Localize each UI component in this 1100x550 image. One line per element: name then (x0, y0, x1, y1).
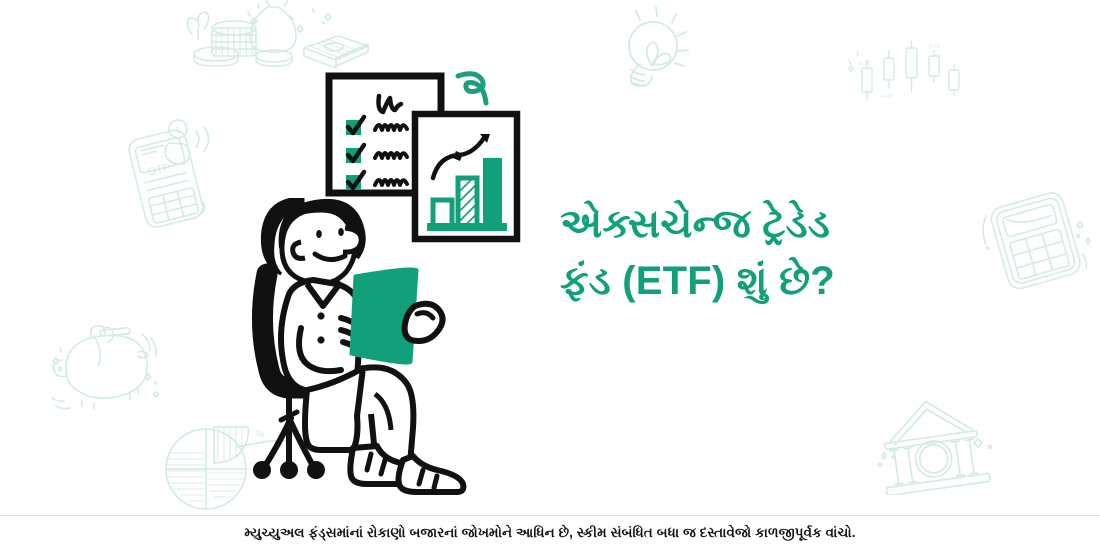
headline-line-2: ફંડ (ETF) શું છે? (560, 253, 1030, 310)
man-head (262, 198, 363, 284)
green-swoosh-flourish (452, 68, 502, 112)
page-title: એક્સચેન્જ ટ્રેડેડ ફંડ (ETF) શું છે? (560, 196, 1030, 310)
lightbulb-watermark (600, 6, 700, 106)
man-hand (405, 304, 443, 341)
checklist-rows (346, 117, 407, 190)
bank-building-watermark (870, 395, 1000, 495)
seated-man-illustration (245, 198, 470, 508)
disclaimer-text: મ્યુચ્યુઅલ ફંડ્સમાંનાં રોકાણો બજારનાં જો… (244, 525, 855, 541)
svg-text:-0.16: -0.16 (858, 61, 871, 67)
candlestick-chart-watermark: -0.16 +0.53 -0.78 +0.38 - (845, 40, 975, 120)
otp-phone-watermark: OTP 1 (110, 105, 230, 230)
bar-large (483, 158, 502, 227)
headline-line-1: એક્સચેન્જ ટ્રેડેડ (560, 196, 1030, 253)
svg-text:+0.53: +0.53 (901, 40, 915, 41)
etf-banner: -0.16 +0.53 -0.78 +0.38 - OTP (0, 0, 1100, 550)
svg-text:OTP: OTP (147, 162, 172, 179)
svg-text:-0.78: -0.78 (927, 44, 940, 50)
money-bag-coins-watermark (170, 0, 370, 76)
footer-disclaimer-bar: મ્યુચ્યુઅલ ફંડ્સમાંનાં રોકાણો બજારનાં જો… (0, 515, 1100, 550)
svg-text:1: 1 (175, 125, 180, 135)
svg-text:-: - (949, 96, 951, 102)
piggy-bank-watermark (38, 322, 168, 412)
svg-text:+0.38: +0.38 (879, 94, 893, 100)
